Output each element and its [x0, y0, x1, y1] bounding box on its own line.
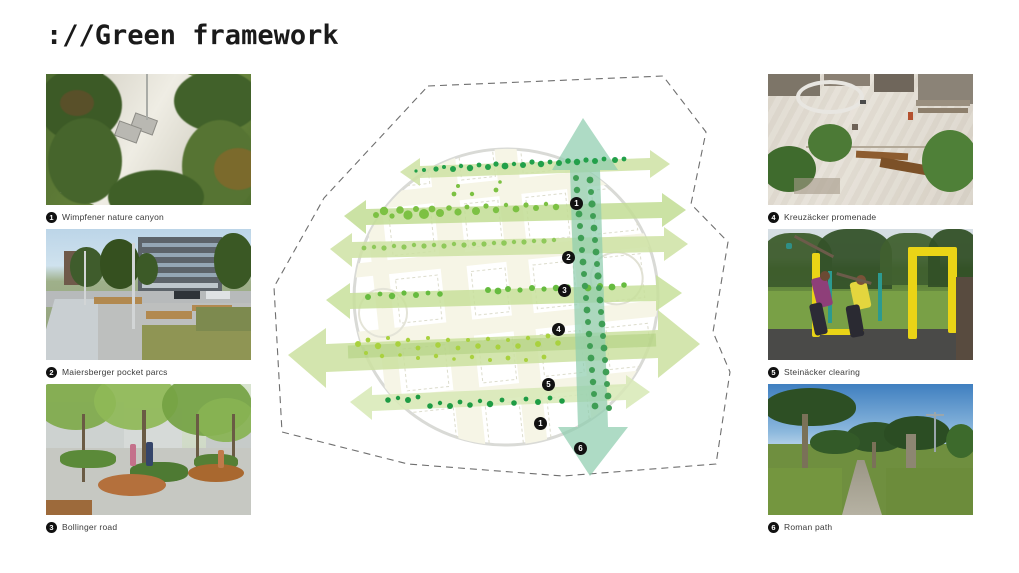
photo-thumbnail-3[interactable]	[46, 384, 251, 515]
photo-caption-text-6: Roman path	[784, 522, 832, 532]
diagram-marker-4[interactable]: 4	[552, 323, 565, 336]
photo-badge-5: 5	[768, 367, 779, 378]
diagram-marker-5[interactable]: 5	[542, 378, 555, 391]
photo-caption-6: 6 Roman path	[768, 520, 973, 534]
photo-caption-text-5: Steinäcker clearing	[784, 367, 860, 377]
diagram-marker-6[interactable]: 6	[574, 442, 587, 455]
photo-caption-3: 3 Bollinger road	[46, 520, 251, 534]
photo-card-5[interactable]: 5 Steinäcker clearing	[768, 229, 973, 379]
photo-badge-4: 4	[768, 212, 779, 223]
photo-badge-3: 3	[46, 522, 57, 533]
photo-caption-text-2: Maiersberger pocket parcs	[62, 367, 168, 377]
photo-card-2[interactable]: 2 Maiersberger pocket parcs	[46, 229, 251, 379]
page-title: ://Green framework	[46, 20, 339, 51]
photo-caption-5: 5 Steinäcker clearing	[768, 365, 973, 379]
photo-caption-text-3: Bollinger road	[62, 522, 117, 532]
slide-canvas: ://Green framework 1 Wimpfener nature ca…	[0, 0, 1019, 573]
photo-caption-text-4: Kreuzäcker promenade	[784, 212, 876, 222]
photo-thumbnail-4[interactable]	[768, 74, 973, 205]
photo-thumbnail-5[interactable]	[768, 229, 973, 360]
diagram-marker-3[interactable]: 3	[558, 284, 571, 297]
diagram-marker-1[interactable]: 1	[570, 197, 583, 210]
photo-thumbnail-1[interactable]	[46, 74, 251, 205]
photo-badge-1: 1	[46, 212, 57, 223]
photo-caption-1: 1 Wimpfener nature canyon	[46, 210, 251, 224]
diagram-marker-1b[interactable]: 1	[534, 417, 547, 430]
photo-card-4[interactable]: 4 Kreuzäcker promenade	[768, 74, 973, 224]
diagram-marker-2[interactable]: 2	[562, 251, 575, 264]
photo-thumbnail-6[interactable]	[768, 384, 973, 515]
photo-card-6[interactable]: 6 Roman path	[768, 384, 973, 534]
photo-caption-4: 4 Kreuzäcker promenade	[768, 210, 973, 224]
photo-card-3[interactable]: 3 Bollinger road	[46, 384, 251, 534]
photo-badge-6: 6	[768, 522, 779, 533]
green-framework-diagram[interactable]: 1 2 3 4 5 1 6	[258, 72, 758, 512]
photo-caption-text-1: Wimpfener nature canyon	[62, 212, 164, 222]
photo-badge-2: 2	[46, 367, 57, 378]
photo-thumbnail-2[interactable]	[46, 229, 251, 360]
photo-card-1[interactable]: 1 Wimpfener nature canyon	[46, 74, 251, 224]
diagram-svg	[258, 72, 758, 512]
photo-caption-2: 2 Maiersberger pocket parcs	[46, 365, 251, 379]
